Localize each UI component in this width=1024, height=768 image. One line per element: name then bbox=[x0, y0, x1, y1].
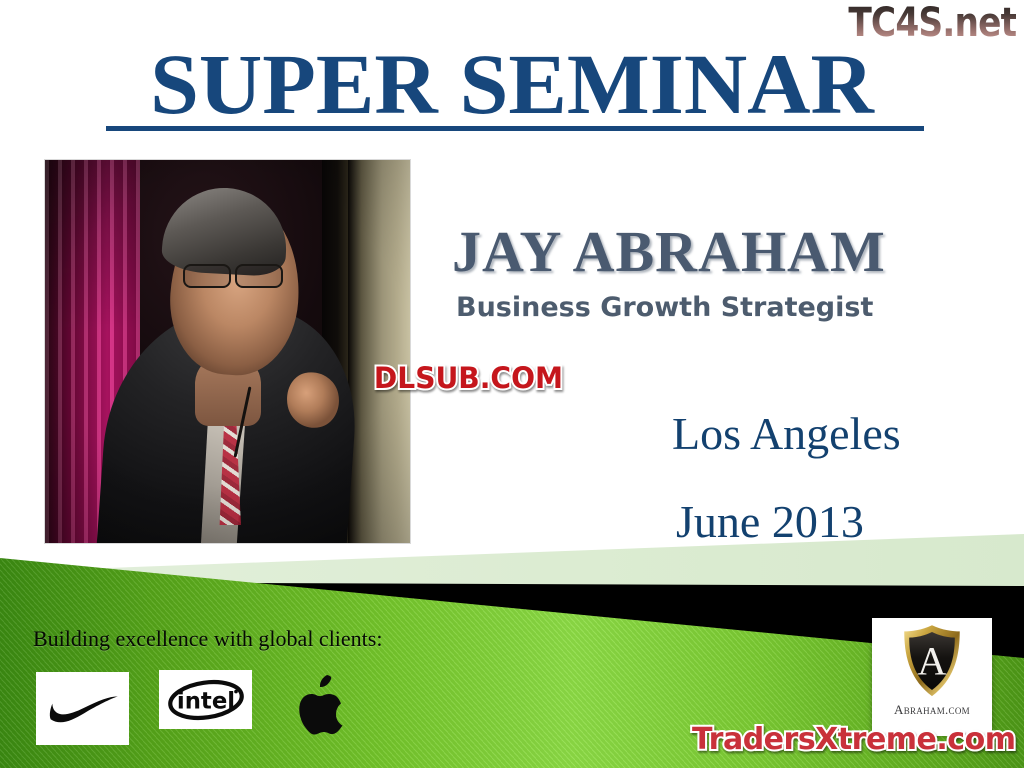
svg-text:intel: intel bbox=[176, 688, 234, 714]
event-location: Los Angeles bbox=[672, 408, 901, 460]
speaker-photo bbox=[45, 160, 410, 543]
intel-wordmark-icon: intel bbox=[164, 676, 248, 724]
title-underline bbox=[106, 126, 924, 131]
svg-text:A: A bbox=[917, 639, 947, 684]
apple-icon bbox=[292, 672, 344, 736]
intel-logo: intel bbox=[159, 670, 252, 729]
clients-label: Building excellence with global clients: bbox=[33, 626, 382, 652]
speaker-subtitle: Business Growth Strategist bbox=[456, 292, 873, 324]
slide-canvas: TC4S.net TC4S.net SUPER SEMINAR JAY ABRA… bbox=[0, 0, 1024, 768]
event-date: June 2013 bbox=[676, 496, 864, 548]
tradersxtreme-watermark: TradersXtreme.com bbox=[692, 722, 1015, 758]
abraham-site-label: Abraham.com bbox=[894, 702, 970, 718]
dlsub-watermark: DLSUB.COM bbox=[374, 361, 563, 395]
nike-logo bbox=[36, 672, 129, 745]
photo-vignette bbox=[45, 160, 410, 543]
shield-icon: A bbox=[901, 624, 963, 698]
page-title: SUPER SEMINAR bbox=[0, 40, 1024, 128]
abraham-logo: A Abraham.com bbox=[872, 618, 992, 736]
apple-logo bbox=[288, 668, 348, 740]
nike-swoosh-icon bbox=[47, 692, 119, 726]
speaker-name: JAY ABRAHAM bbox=[452, 222, 886, 282]
